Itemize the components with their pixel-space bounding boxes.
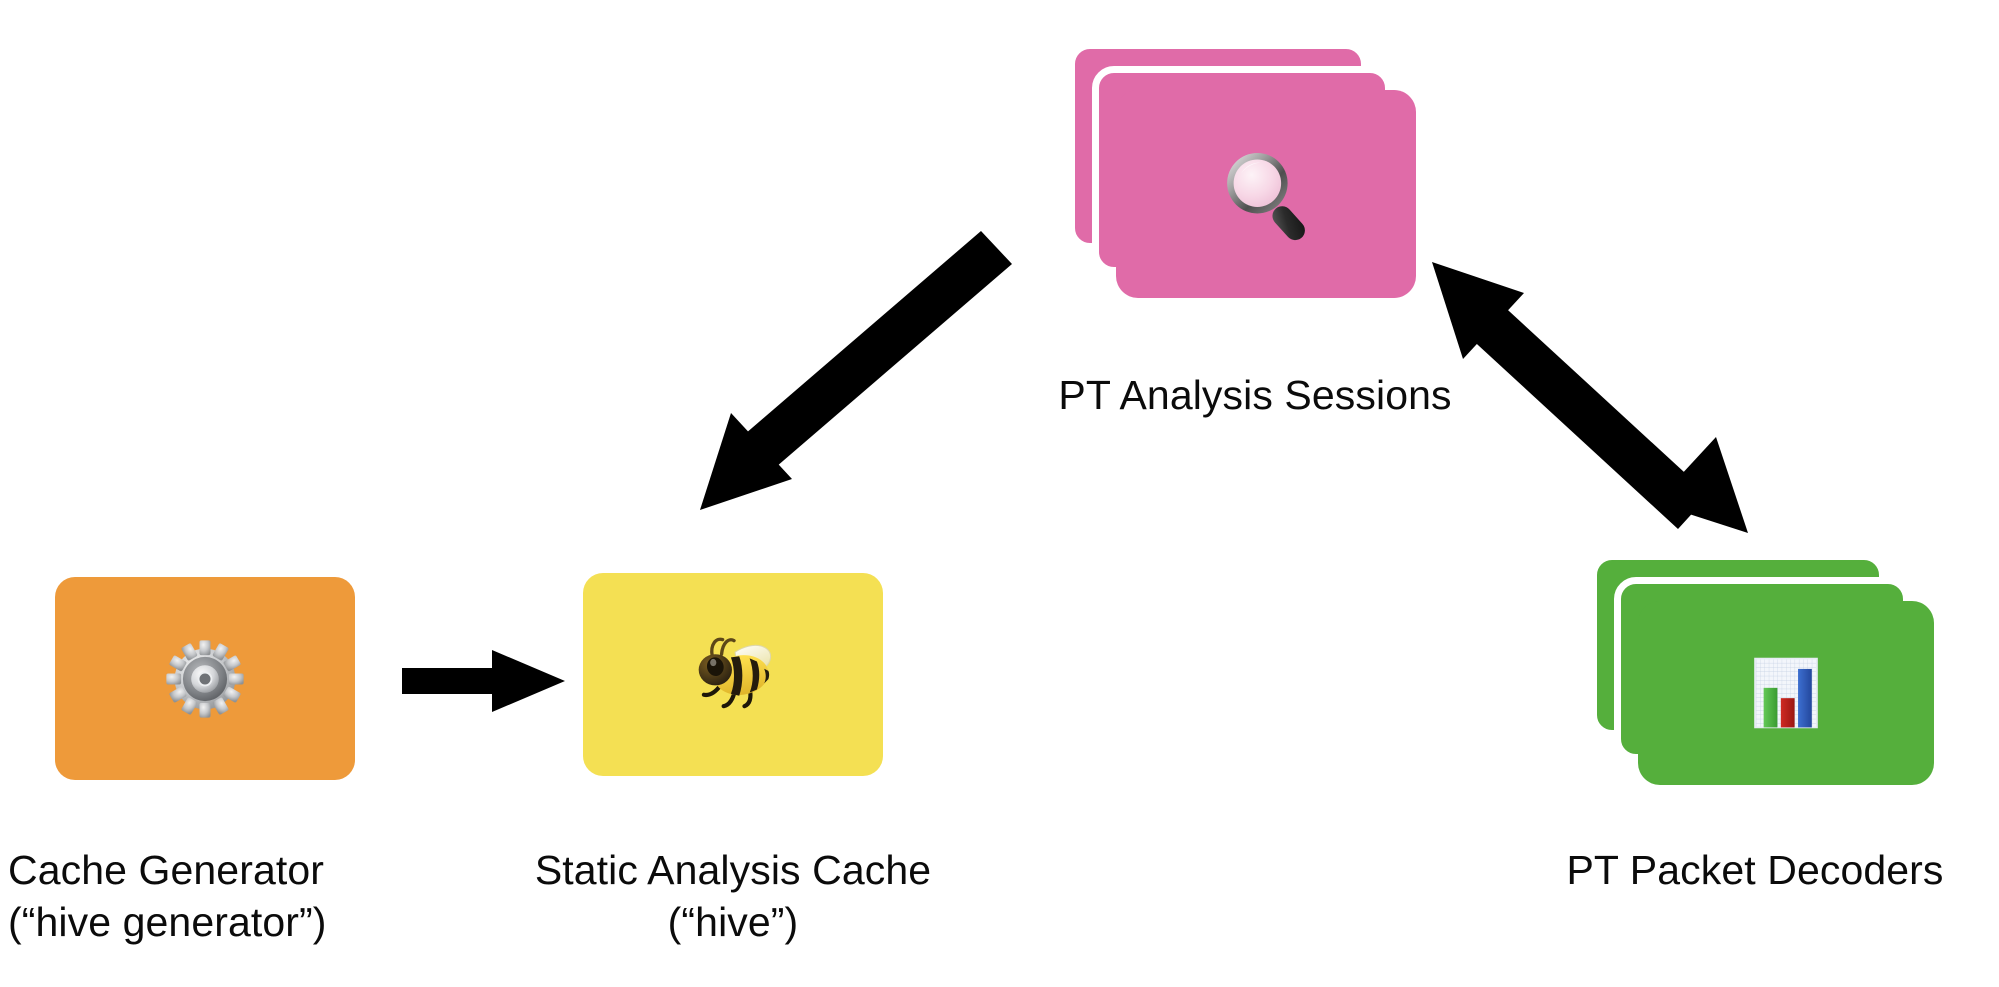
honeybee-icon	[583, 623, 883, 727]
label-line-1: Cache Generator	[8, 845, 468, 897]
node-pt-packet-decoders[interactable]	[1590, 553, 1958, 805]
node-cache-generator[interactable]	[55, 577, 355, 780]
bar-chart-icon	[1638, 650, 1934, 736]
card-face[interactable]	[583, 573, 883, 776]
label-static-analysis-cache: Static Analysis Cache (“hive”)	[463, 845, 1003, 948]
label-line-2: (“hive”)	[463, 897, 1003, 949]
connector-sessions-to-cache	[700, 231, 1012, 510]
magnifying-glass-icon	[1116, 140, 1416, 248]
node-static-analysis-cache[interactable]	[583, 573, 883, 776]
diagram-canvas: PT Analysis Sessions	[0, 0, 1999, 987]
connector-generator-to-cache	[402, 650, 565, 712]
card-sheet-front[interactable]	[1116, 90, 1416, 298]
connector-layer	[0, 0, 1999, 987]
label-pt-packet-decoders: PT Packet Decoders	[1520, 845, 1990, 897]
label-cache-generator: Cache Generator (“hive generator”)	[8, 845, 468, 948]
label-line-2: (“hive generator”)	[8, 897, 468, 949]
label-line: PT Packet Decoders	[1520, 845, 1990, 897]
node-pt-analysis-sessions[interactable]	[1068, 42, 1438, 320]
card-sheet-front[interactable]	[1638, 601, 1934, 785]
gear-icon	[55, 633, 355, 725]
label-pt-analysis-sessions: PT Analysis Sessions	[1005, 370, 1505, 422]
label-line-1: Static Analysis Cache	[463, 845, 1003, 897]
card-face[interactable]	[55, 577, 355, 780]
label-line: PT Analysis Sessions	[1005, 370, 1505, 422]
